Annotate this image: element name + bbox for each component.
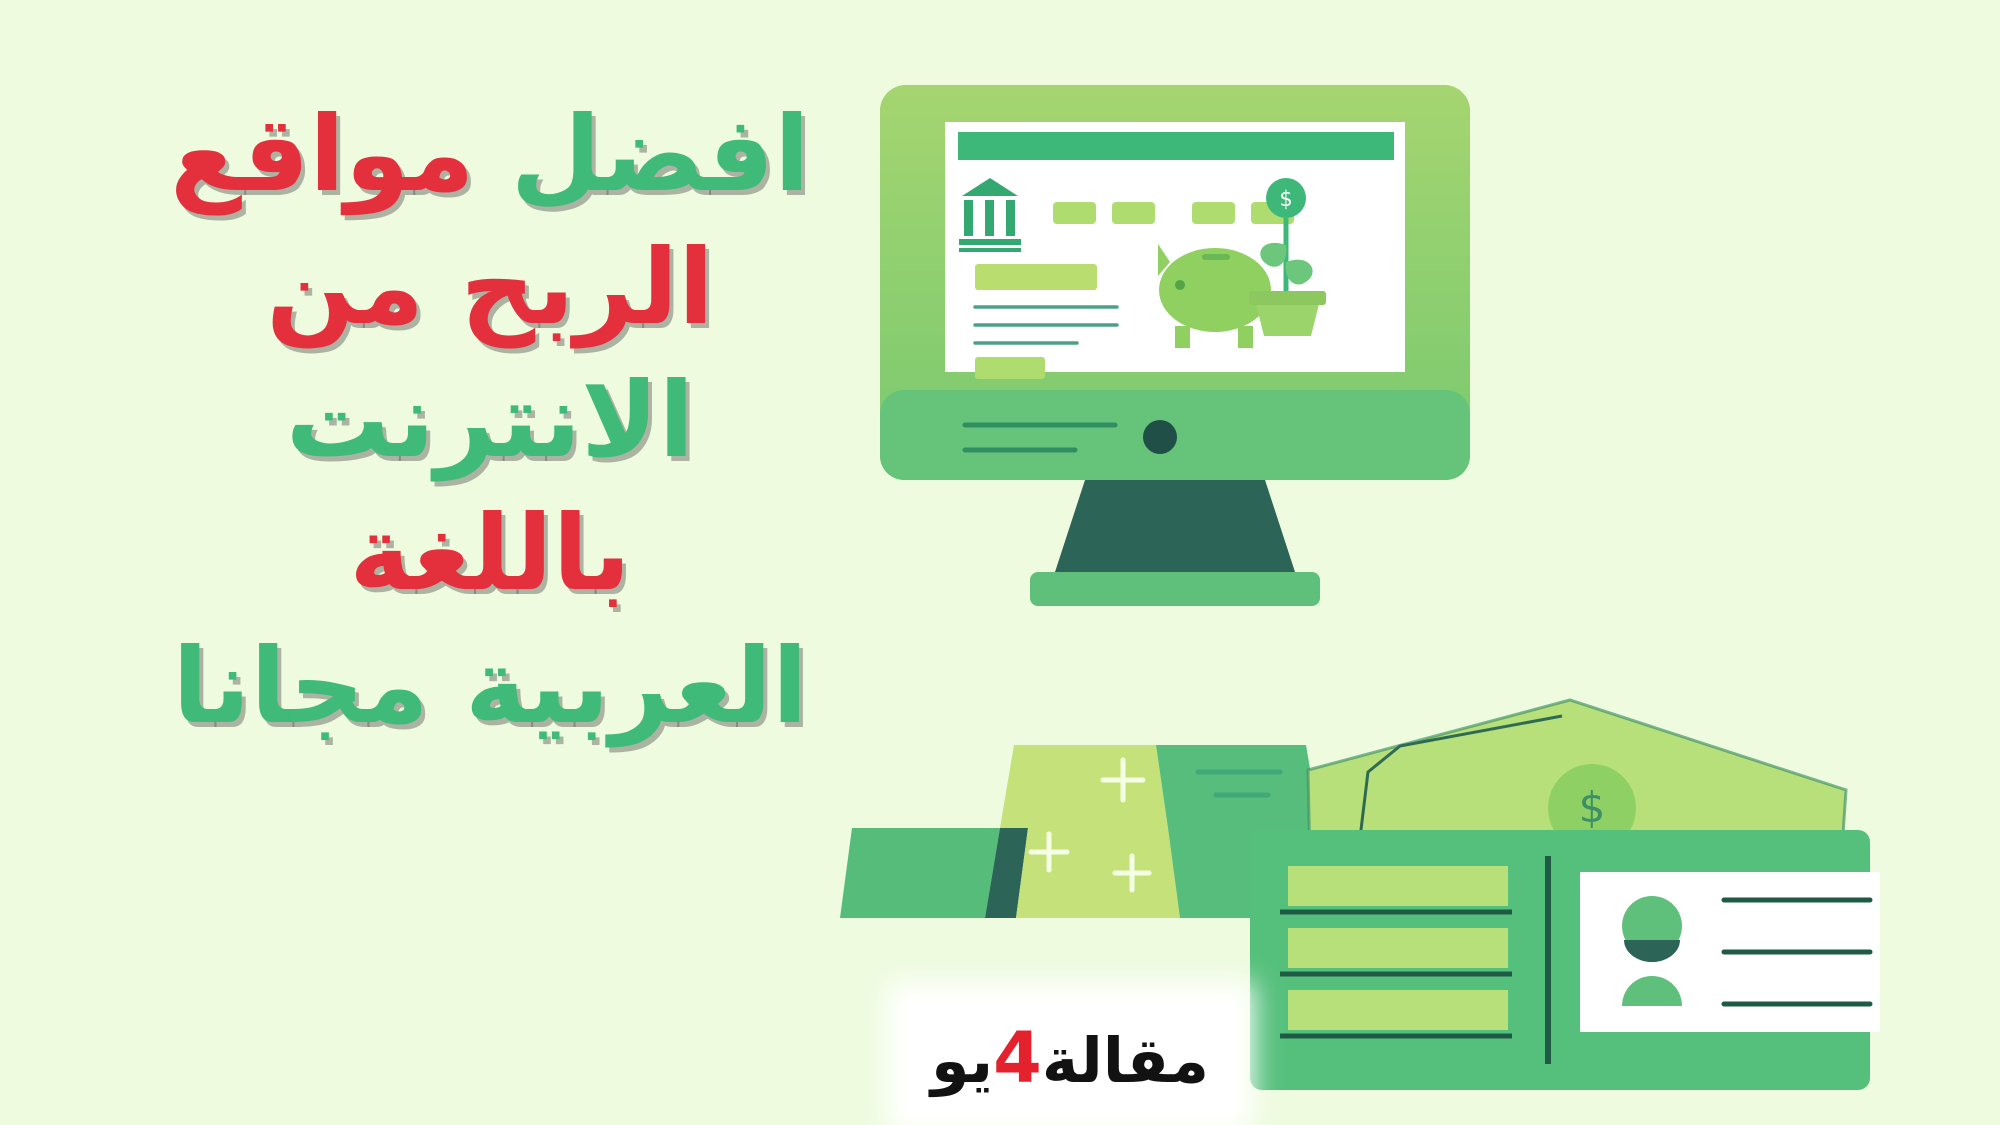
- headline-block: افضل مواقع الربح من الانترنت باللغة العر…: [60, 88, 920, 754]
- id-card-fields: [1280, 866, 1512, 1036]
- logo-word-end: يو: [931, 1024, 993, 1097]
- banking-dashboard-screen: $: [945, 122, 1405, 379]
- monitor-power-dot: [1143, 420, 1177, 454]
- svg-text:$: $: [1279, 187, 1292, 211]
- id-card: [1250, 830, 1880, 1090]
- headline-word-afdal: افضل: [511, 93, 810, 215]
- monitor-stand: [1030, 480, 1320, 606]
- site-logo-text: مقالة4يو: [931, 1023, 1209, 1093]
- svg-text:$: $: [1579, 783, 1606, 832]
- finance-illustration: $: [840, 0, 2000, 1125]
- headline-line-3: الانترنت: [60, 354, 920, 487]
- headline-line-5: العربية مجانا: [60, 620, 920, 753]
- headline-word-mawaqi: مواقع: [170, 93, 474, 215]
- desktop-monitor: $: [880, 85, 1470, 606]
- logo-digit: 4: [993, 1017, 1042, 1099]
- headline-line-4: باللغة: [60, 487, 920, 620]
- poster-canvas: افضل مواقع الربح من الانترنت باللغة العر…: [0, 0, 2000, 1125]
- site-logo[interactable]: مقالة4يو: [905, 1000, 1235, 1115]
- screen-header-bar: [958, 132, 1394, 160]
- logo-word-start: مقالة: [1042, 1024, 1209, 1097]
- headline-line-2: الربح من: [60, 221, 920, 354]
- headline-line-1: افضل مواقع: [60, 88, 920, 221]
- avatar-icon: [1622, 896, 1682, 1006]
